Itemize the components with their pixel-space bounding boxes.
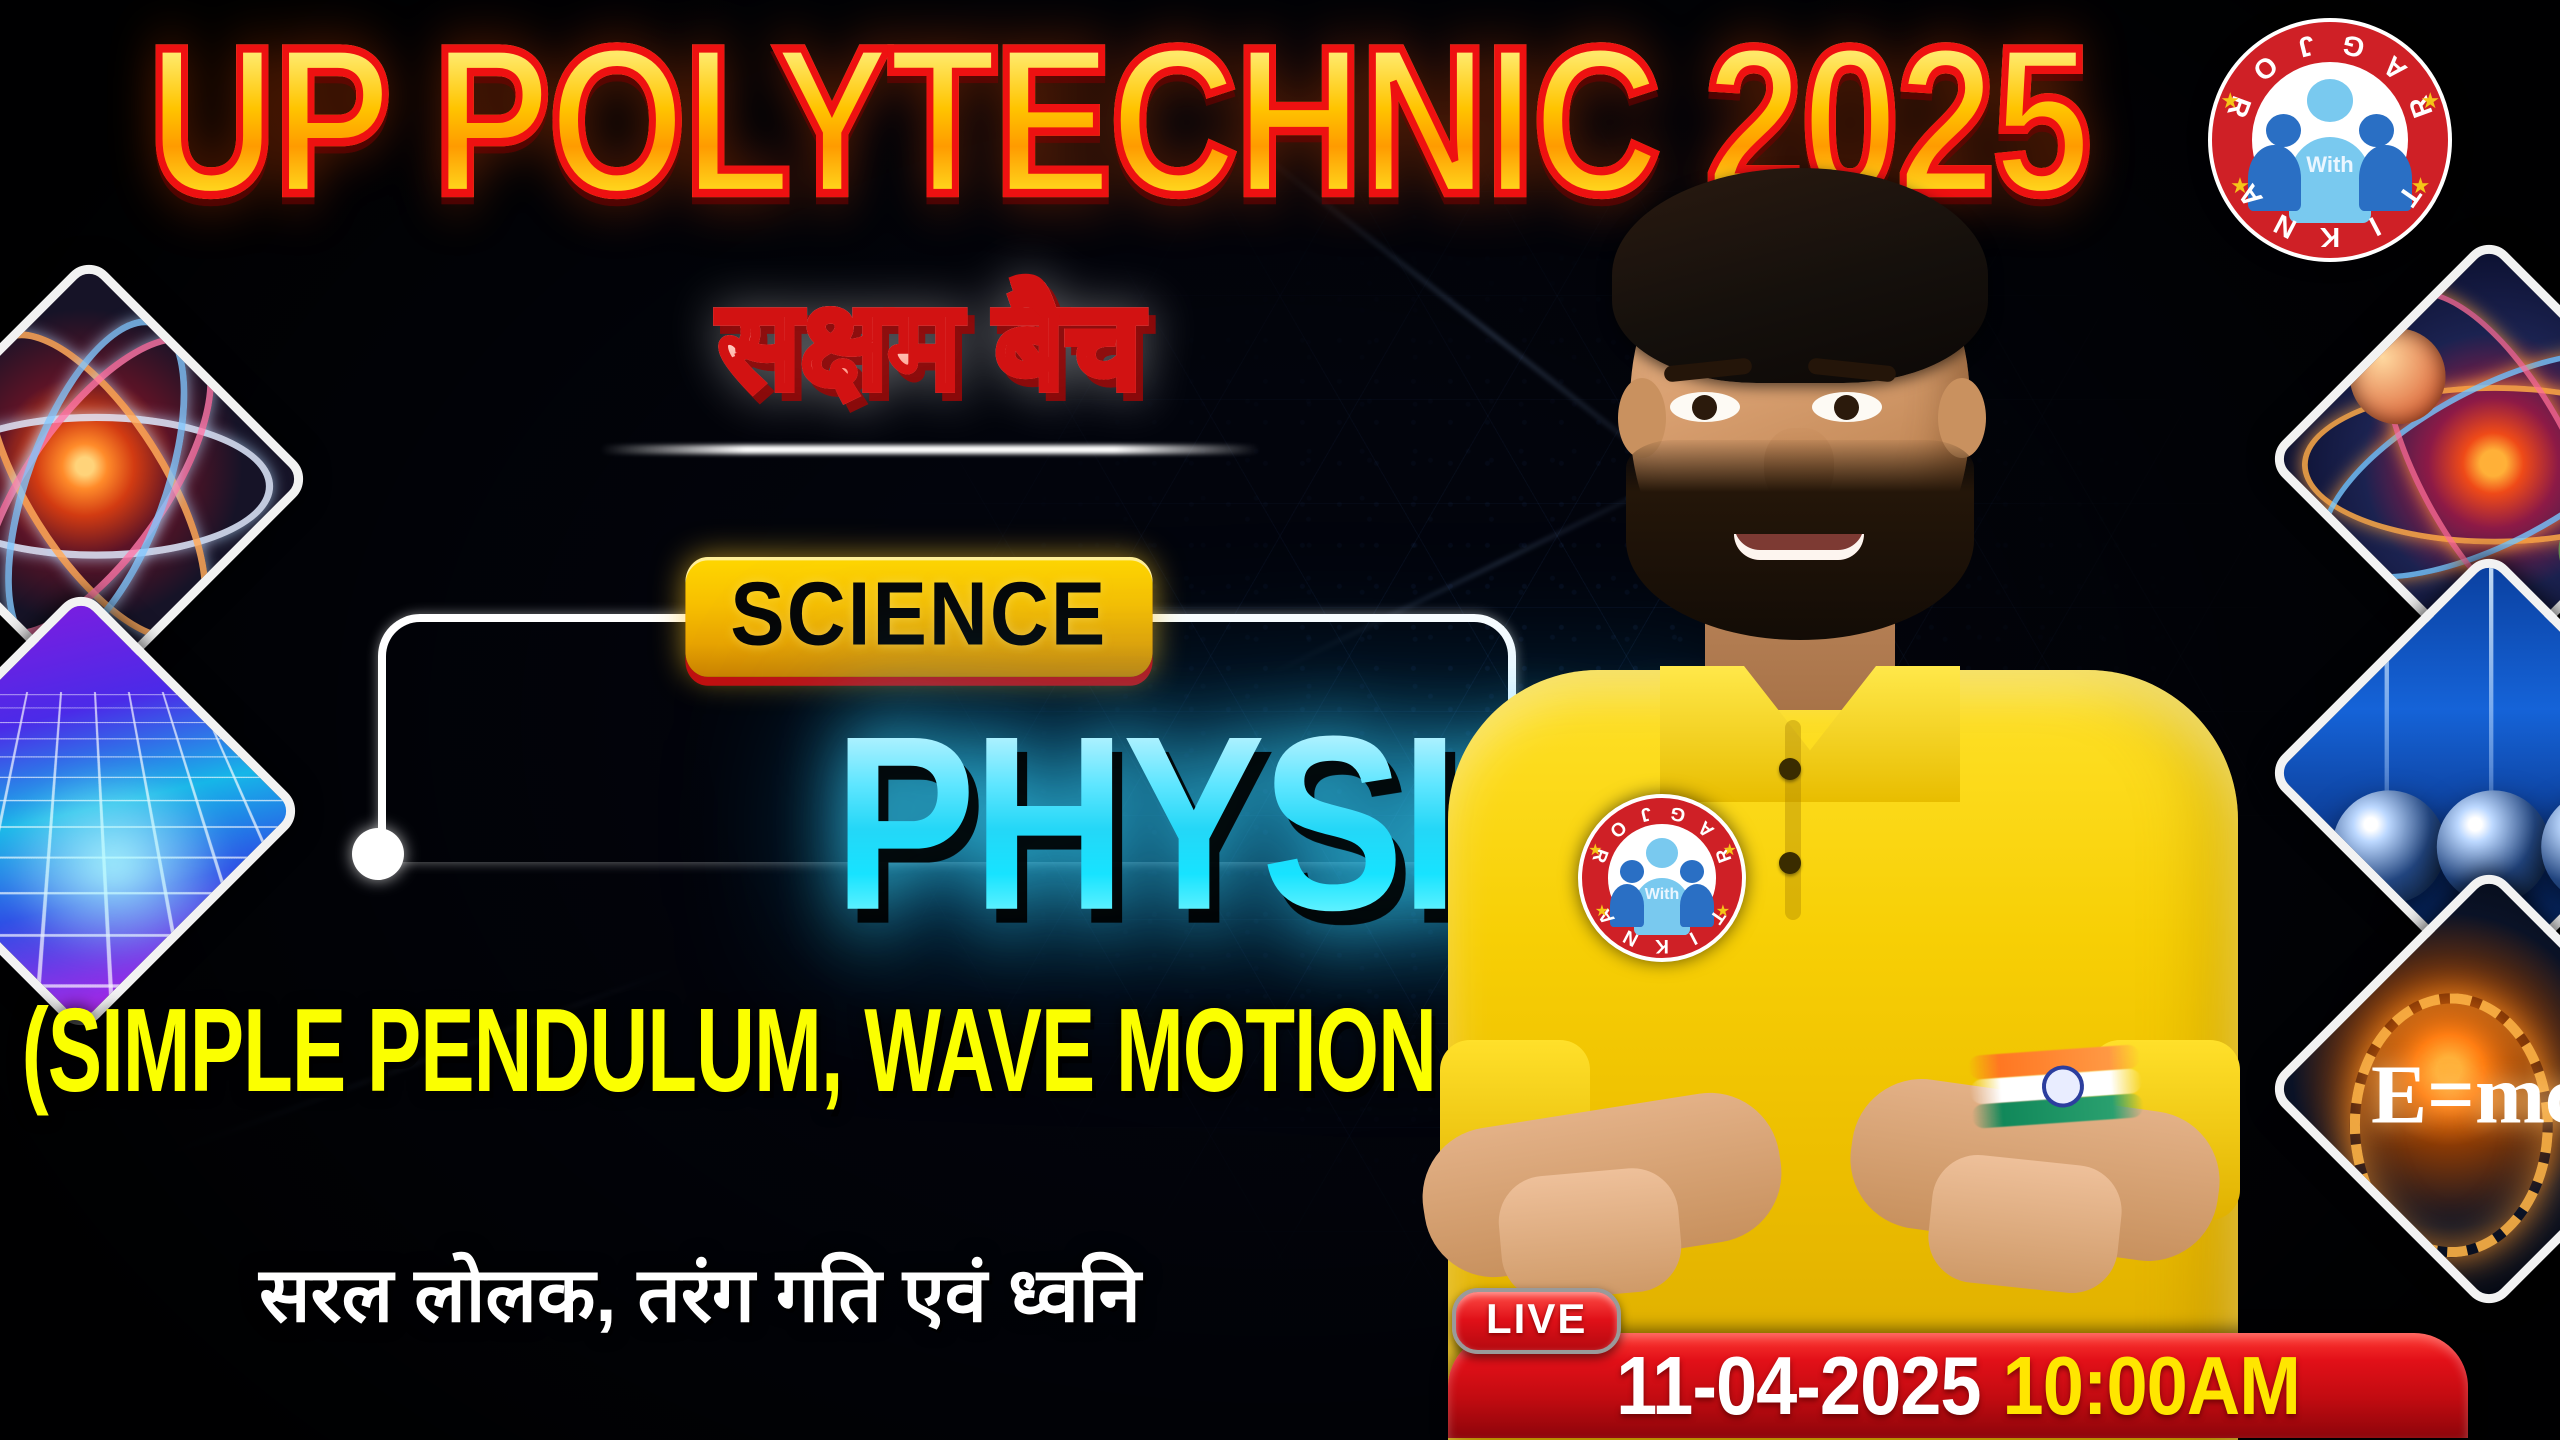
instructor-hand-left <box>1924 1150 2126 1297</box>
topic-subtitle-english: (SIMPLE PENDULUM, WAVE MOTION & SOUND) <box>22 990 1419 1109</box>
shirt-placket <box>1785 720 1801 920</box>
logo-star-icon: ★ <box>2220 94 2240 108</box>
logo-star-icon: ★ <box>2420 94 2440 108</box>
batch-name-hindi: सक्षम बैच <box>520 282 1340 410</box>
logo-star-icon: ★ <box>1588 844 1602 858</box>
instructor-photo: With ROJGAR ANKIT ★ ★ ★ ★ <box>1330 110 2340 1440</box>
logo-star-icon: ★ <box>2411 179 2431 193</box>
shirt-button <box>1779 852 1801 874</box>
shirt-button <box>1779 758 1801 780</box>
instructor-eye-left <box>1670 392 1740 422</box>
brand-logo-header[interactable]: With ROJGAR ANKIT ★ ★ ★ ★ <box>2208 18 2452 262</box>
logo-star-icon: ★ <box>2230 179 2250 193</box>
schedule-time: 10:00AM <box>2003 1344 2300 1427</box>
logo-bottom-arc-text: ANKIT <box>2208 18 2452 262</box>
indian-flag-icon <box>1968 1044 2145 1130</box>
topic-subtitle-hindi: सरल लोलक, तरंग गति एवं ध्वनि <box>0 1258 1400 1334</box>
instructor-smile <box>1734 534 1864 560</box>
instructor-hand-right <box>1495 1164 1685 1303</box>
course-promo-poster: E=mc2 UP POLYTECHNIC 2025 सक्षम बैच SCIE… <box>0 0 2560 1440</box>
logo-star-icon: ★ <box>1722 844 1736 858</box>
logo-star-icon: ★ <box>1716 905 1730 919</box>
instructor-eye-right <box>1812 392 1882 422</box>
emc2-base: E=mc <box>2371 1047 2560 1141</box>
logo-center-text: With <box>2208 152 2452 178</box>
schedule-date: 11-04-2025 <box>1616 1344 1980 1427</box>
brand-logo-shirt: With ROJGAR ANKIT ★ ★ ★ ★ <box>1578 794 1746 962</box>
logo-bottom-arc-text: ANKIT <box>1578 794 1746 962</box>
instructor-hair <box>1612 168 1988 383</box>
logo-center-text: With <box>1578 886 1746 904</box>
subject-badge: SCIENCE <box>685 557 1152 677</box>
batch-underline-divider <box>600 445 1260 454</box>
live-badge: LIVE <box>1452 1288 1621 1354</box>
logo-star-icon: ★ <box>1595 905 1609 919</box>
